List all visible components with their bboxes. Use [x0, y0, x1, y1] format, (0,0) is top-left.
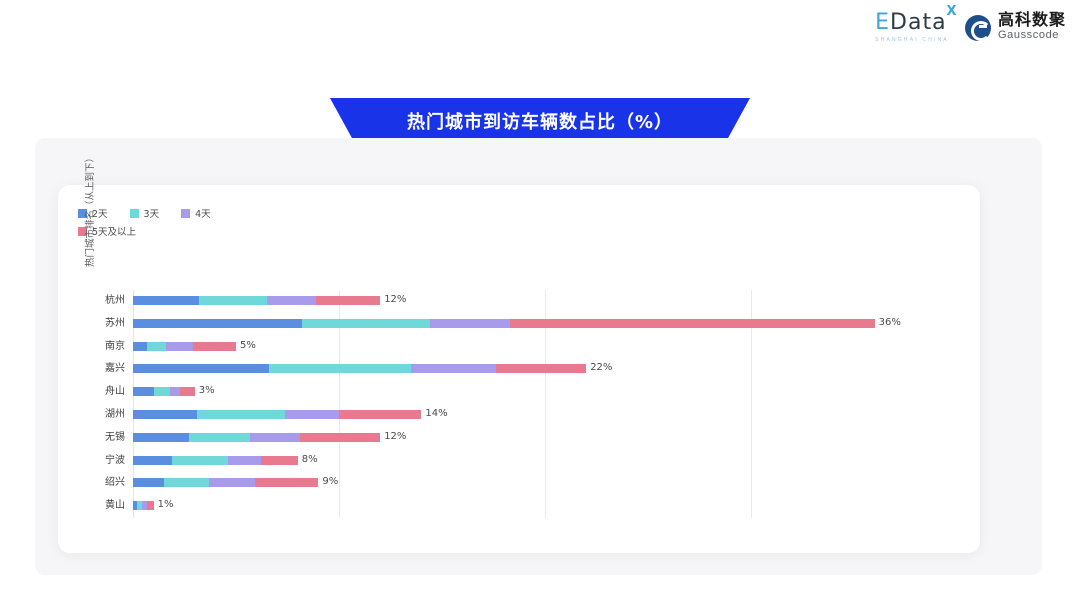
chart-row[interactable]: 无锡12% [58, 427, 980, 449]
bar-value-label: 8% [302, 454, 318, 466]
bar-segment-0[interactable] [133, 342, 147, 351]
bar-segment-3[interactable] [339, 410, 421, 419]
chart-row[interactable]: 杭州12% [58, 290, 980, 312]
chart-row[interactable]: 湖州14% [58, 404, 980, 426]
stacked-bar[interactable] [133, 319, 875, 328]
chart-row[interactable]: 嘉兴22% [58, 358, 980, 380]
stacked-bar[interactable] [133, 342, 236, 351]
bar-segment-1[interactable] [199, 296, 267, 305]
stacked-bar[interactable] [133, 296, 380, 305]
evdata-x-superscript: X [947, 5, 958, 18]
bar-segment-3[interactable] [180, 387, 194, 396]
bar-segment-0[interactable] [133, 478, 164, 487]
y-axis-tick-label: 绍兴 [58, 472, 125, 494]
bar-value-label: 12% [384, 431, 406, 443]
evdata-logo: EDataX shanghai china [875, 12, 949, 43]
gausscode-name-en: Gausscode [998, 30, 1066, 42]
bar-segment-1[interactable] [172, 456, 228, 465]
bar-segment-0[interactable] [133, 456, 172, 465]
gausscode-name-cn: 高科数聚 [998, 13, 1066, 30]
evdata-ev-letters: E [875, 10, 890, 35]
bar-segment-3[interactable] [496, 364, 587, 373]
bar-segment-0[interactable] [133, 410, 197, 419]
stacked-bar[interactable] [133, 478, 318, 487]
stacked-bar[interactable] [133, 387, 195, 396]
bar-segment-3[interactable] [510, 319, 875, 328]
bar-segment-1[interactable] [154, 387, 170, 396]
brand-logo-bar: EDataX shanghai china 高科数聚 Gausscode [875, 12, 1066, 43]
bar-segment-0[interactable] [133, 319, 302, 328]
chart-row[interactable]: 南京5% [58, 336, 980, 358]
y-axis-tick-label: 黄山 [58, 495, 125, 517]
bar-value-label: 3% [199, 385, 215, 397]
bar-segment-1[interactable] [164, 478, 209, 487]
bar-value-label: 1% [158, 499, 174, 511]
y-axis-tick-label: 宁波 [58, 450, 125, 472]
bar-segment-1[interactable] [189, 433, 251, 442]
stacked-bar[interactable] [133, 410, 421, 419]
bar-value-label: 9% [322, 476, 338, 488]
bar-segment-2[interactable] [285, 410, 339, 419]
chart-card: 2天3天4天5天及以上 热门城市排名（从上到下） 杭州12%苏州36%南京5%嘉… [58, 185, 980, 553]
chart-row[interactable]: 舟山3% [58, 381, 980, 403]
bar-segment-3[interactable] [261, 456, 298, 465]
bar-segment-2[interactable] [267, 296, 316, 305]
bar-segment-3[interactable] [316, 296, 380, 305]
bar-segment-2[interactable] [166, 342, 193, 351]
bar-value-label: 12% [384, 294, 406, 306]
chart-row[interactable]: 绍兴9% [58, 472, 980, 494]
evdata-wordmark: EDataX [875, 12, 946, 34]
bar-segment-3[interactable] [300, 433, 380, 442]
gausscode-text: 高科数聚 Gausscode [998, 13, 1066, 41]
chart-row[interactable]: 黄山1% [58, 495, 980, 517]
bar-segment-0[interactable] [133, 296, 199, 305]
bar-segment-3[interactable] [147, 501, 153, 510]
bar-value-label: 22% [590, 362, 612, 374]
bar-segment-2[interactable] [209, 478, 254, 487]
stacked-bar[interactable] [133, 501, 154, 510]
evdata-data-letters: Data [890, 10, 947, 35]
slide-root: EDataX shanghai china 高科数聚 Gausscode 热门城… [0, 0, 1080, 608]
bar-segment-0[interactable] [133, 364, 269, 373]
gausscode-logo: 高科数聚 Gausscode [965, 13, 1066, 41]
y-axis-tick-label: 无锡 [58, 427, 125, 449]
chart-bar-rows: 杭州12%苏州36%南京5%嘉兴22%舟山3%湖州14%无锡12%宁波8%绍兴9… [58, 185, 980, 553]
page-title: 热门城市到访车辆数占比（%） [407, 108, 673, 134]
bar-segment-2[interactable] [228, 456, 261, 465]
y-axis-tick-label: 南京 [58, 336, 125, 358]
stacked-bar[interactable] [133, 433, 380, 442]
chart-row[interactable]: 宁波8% [58, 450, 980, 472]
chart-plot-area: 热门城市排名（从上到下） 杭州12%苏州36%南京5%嘉兴22%舟山3%湖州14… [58, 185, 980, 553]
bar-segment-1[interactable] [302, 319, 430, 328]
bar-value-label: 14% [425, 408, 447, 420]
y-axis-tick-label: 杭州 [58, 290, 125, 312]
bar-segment-2[interactable] [170, 387, 180, 396]
bar-segment-1[interactable] [147, 342, 166, 351]
chart-row[interactable]: 苏州36% [58, 313, 980, 335]
y-axis-tick-label: 湖州 [58, 404, 125, 426]
y-axis-tick-label: 舟山 [58, 381, 125, 403]
stacked-bar[interactable] [133, 364, 586, 373]
bar-segment-3[interactable] [255, 478, 319, 487]
gauss-circle-logo-icon [965, 15, 991, 41]
bar-segment-2[interactable] [411, 364, 495, 373]
bar-segment-0[interactable] [133, 433, 189, 442]
bar-segment-2[interactable] [250, 433, 299, 442]
bar-segment-3[interactable] [193, 342, 236, 351]
stacked-bar[interactable] [133, 456, 298, 465]
bar-value-label: 36% [879, 317, 901, 329]
bar-value-label: 5% [240, 340, 256, 352]
bar-segment-2[interactable] [430, 319, 510, 328]
bar-segment-1[interactable] [197, 410, 286, 419]
evdata-tagline: shanghai china [875, 37, 949, 43]
y-axis-tick-label: 苏州 [58, 313, 125, 335]
y-axis-tick-label: 嘉兴 [58, 358, 125, 380]
bar-segment-1[interactable] [269, 364, 411, 373]
bar-segment-0[interactable] [133, 387, 154, 396]
